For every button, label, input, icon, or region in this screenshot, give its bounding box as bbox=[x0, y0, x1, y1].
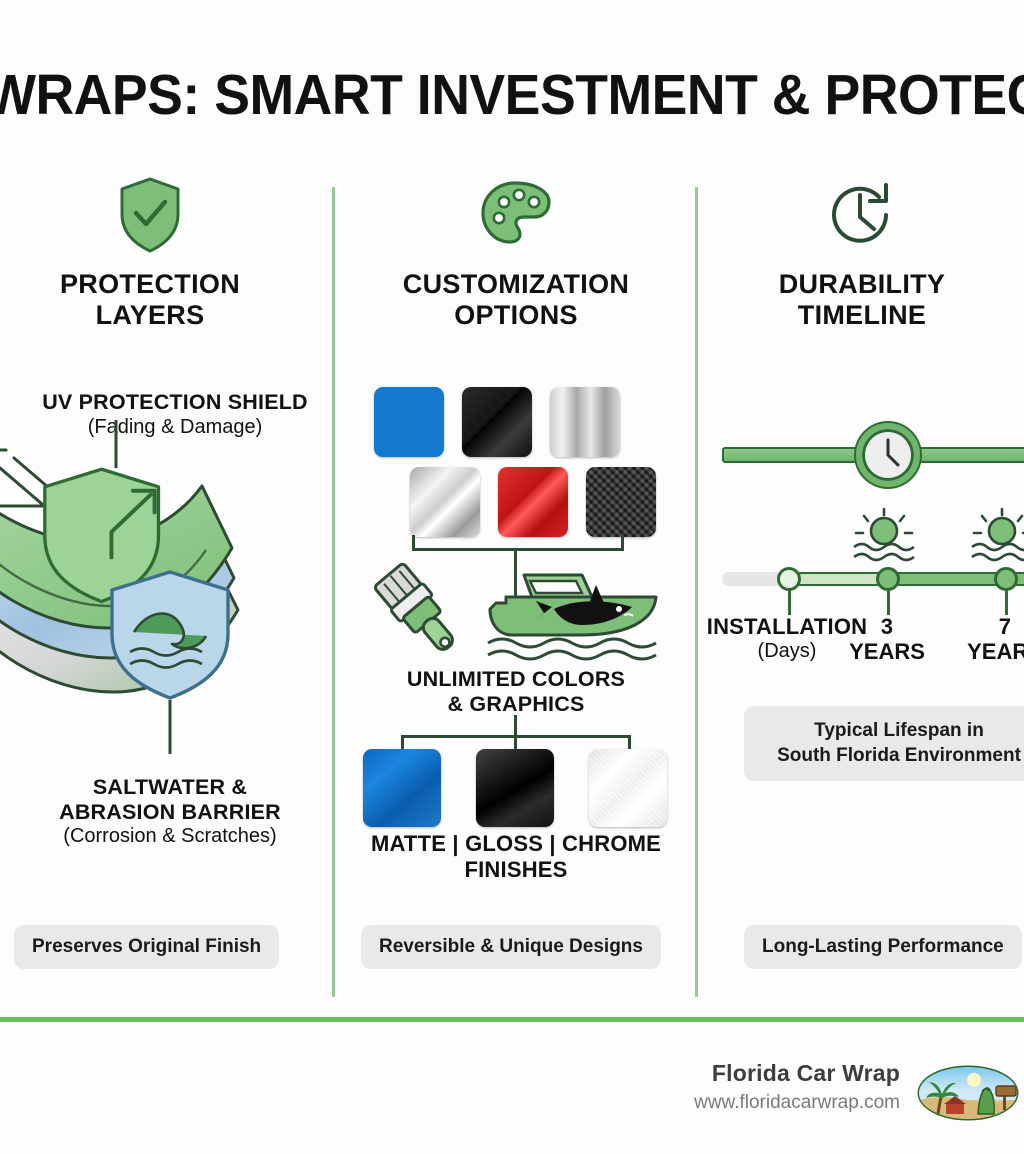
column-3-title-line1: DURABILITY bbox=[700, 269, 1024, 300]
finishes-caption-line2: FINISHES bbox=[348, 857, 684, 883]
sun-over-water-icon-1 bbox=[846, 507, 922, 570]
gloss-finish-swatch[interactable] bbox=[476, 749, 554, 827]
silver-brushed-swatch[interactable] bbox=[550, 387, 620, 457]
red-gloss-swatch[interactable] bbox=[498, 467, 568, 537]
saltwater-heading-line2: ABRASION BARRIER bbox=[20, 800, 320, 825]
column-2-title-line2: OPTIONS bbox=[348, 300, 684, 331]
connector-stem-2 bbox=[514, 715, 517, 737]
badge-long-lasting-performance: Long-Lasting Performance bbox=[744, 925, 1022, 969]
boat-with-shark-graphic-icon bbox=[486, 567, 666, 668]
timeline-stem-7-years bbox=[1005, 589, 1008, 615]
page-title: BOAT WRAPS: SMART INVESTMENT & PROTECTIO… bbox=[0, 62, 1024, 128]
column-1-title-line1: PROTECTION bbox=[0, 269, 330, 300]
connector-horizontal-1 bbox=[412, 548, 624, 551]
matte-finish-swatch[interactable] bbox=[363, 749, 441, 827]
timeline-label-7-years-line2: YEARS bbox=[965, 640, 1024, 665]
lifespan-note-box: Typical Lifespan in South Florida Enviro… bbox=[744, 706, 1024, 781]
column-divider-1 bbox=[332, 187, 335, 997]
sun-over-water-icon-2 bbox=[964, 507, 1024, 570]
unlimited-colors-heading: UNLIMITED COLORS & GRAPHICS bbox=[348, 667, 684, 717]
timeline-label-3-years-line1: 3 bbox=[847, 615, 927, 640]
boat-layers-illustration bbox=[0, 420, 318, 765]
footer: Florida Car Wrap www.floridacarwrap.com bbox=[0, 1056, 1024, 1136]
saltwater-barrier-label: SALTWATER & ABRASION BARRIER (Corrosion … bbox=[20, 775, 320, 848]
timeline-stem-installation bbox=[788, 589, 791, 615]
column-3-header: DURABILITY TIMELINE bbox=[700, 175, 1024, 331]
badge-preserves-original-finish: Preserves Original Finish bbox=[14, 925, 279, 969]
connector-left-2 bbox=[401, 735, 404, 749]
page-title-container: BOAT WRAPS: SMART INVESTMENT & PROTECTIO… bbox=[0, 62, 1024, 138]
timeline-track-segment-1 bbox=[788, 572, 888, 586]
connector-mid-2 bbox=[514, 735, 517, 749]
timeline-label-3-years-line2: YEARS bbox=[847, 640, 927, 665]
unlimited-colors-line1: UNLIMITED COLORS bbox=[348, 667, 684, 692]
timeline-label-3-years: 3 YEARS bbox=[847, 615, 927, 664]
paint-palette-icon bbox=[348, 175, 684, 255]
column-1-header: PROTECTION LAYERS bbox=[0, 175, 330, 331]
timeline-clock-icon bbox=[856, 423, 920, 487]
saltwater-sub: (Corrosion & Scratches) bbox=[20, 824, 320, 848]
shield-check-icon bbox=[0, 175, 330, 255]
blue-swatch[interactable] bbox=[374, 387, 444, 457]
column-divider-2 bbox=[695, 187, 698, 997]
infographic-page: BOAT WRAPS: SMART INVESTMENT & PROTECTIO… bbox=[0, 0, 1024, 1154]
footer-brand-name: Florida Car Wrap bbox=[712, 1060, 900, 1087]
timeline-node-installation[interactable] bbox=[777, 567, 801, 591]
timeline-node-7-years[interactable] bbox=[994, 567, 1018, 591]
lifespan-note-line1: Typical Lifespan in bbox=[760, 718, 1024, 743]
unlimited-colors-line2: & GRAPHICS bbox=[348, 692, 684, 717]
paintbrush-icon bbox=[360, 557, 480, 670]
column-3-title: DURABILITY TIMELINE bbox=[700, 269, 1024, 331]
clock-refresh-icon bbox=[700, 175, 1024, 255]
chrome-finish-swatch[interactable] bbox=[589, 749, 667, 827]
florida-beach-alligator-oval-logo bbox=[916, 1064, 1020, 1122]
black-gloss-swatch[interactable] bbox=[462, 387, 532, 457]
carbon-fiber-swatch[interactable] bbox=[586, 467, 656, 537]
column-1-title-line2: LAYERS bbox=[0, 300, 330, 331]
column-3-title-line2: TIMELINE bbox=[700, 300, 1024, 331]
timeline-node-3-years[interactable] bbox=[876, 567, 900, 591]
badge-reversible-unique-designs: Reversible & Unique Designs bbox=[361, 925, 661, 969]
connector-right-2 bbox=[628, 735, 631, 749]
lifespan-note-line2: South Florida Environment bbox=[760, 743, 1024, 768]
uv-protection-heading: UV PROTECTION SHIELD bbox=[30, 390, 320, 415]
connector-right-1 bbox=[621, 535, 624, 551]
column-protection-layers: PROTECTION LAYERS UV PROTECTION SHIELD (… bbox=[0, 175, 330, 995]
footer-url[interactable]: www.floridacarwrap.com bbox=[694, 1092, 900, 1114]
column-2-title-line1: CUSTOMIZATION bbox=[348, 269, 684, 300]
column-1-title: PROTECTION LAYERS bbox=[0, 269, 330, 331]
column-customization-options: CUSTOMIZATION OPTIONS bbox=[348, 175, 684, 995]
columns-container: PROTECTION LAYERS UV PROTECTION SHIELD (… bbox=[0, 175, 1024, 995]
finishes-caption-line1: MATTE | GLOSS | CHROME bbox=[348, 831, 684, 857]
timeline-label-7-years: 7 YEARS bbox=[965, 615, 1024, 664]
timeline-stem-3-years bbox=[887, 589, 890, 615]
column-durability-timeline: DURABILITY TIMELINE bbox=[700, 175, 1024, 995]
column-2-title: CUSTOMIZATION OPTIONS bbox=[348, 269, 684, 331]
footer-divider-rule bbox=[0, 1017, 1024, 1022]
timeline-label-7-years-line1: 7 bbox=[965, 615, 1024, 640]
saltwater-heading-line1: SALTWATER & bbox=[20, 775, 320, 800]
column-2-header: CUSTOMIZATION OPTIONS bbox=[348, 175, 684, 331]
chrome-swatch[interactable] bbox=[410, 467, 480, 537]
